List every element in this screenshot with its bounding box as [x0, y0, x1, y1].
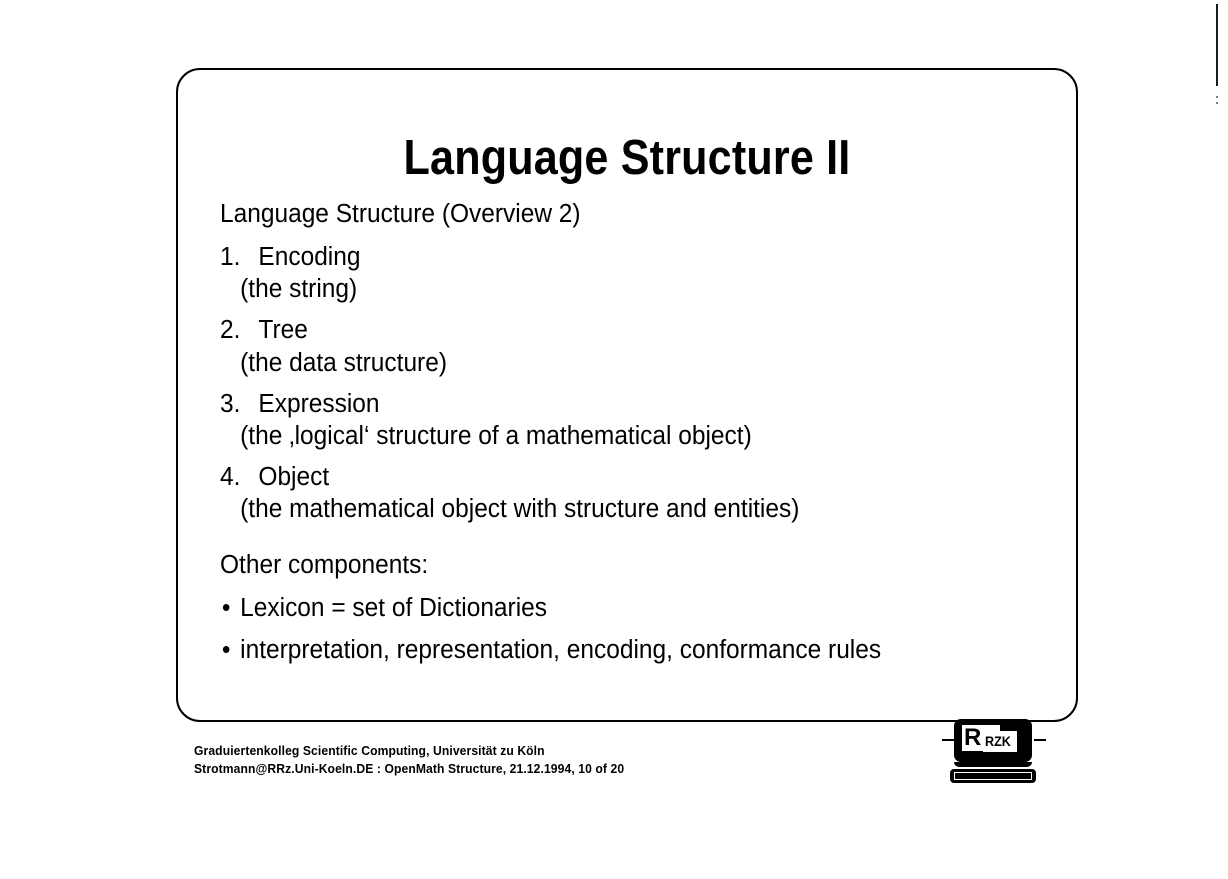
list-item: 2.Tree (the data structure)	[220, 314, 1017, 378]
list-item-heading: Expression	[258, 390, 379, 418]
list-item: 4.Object (the mathematical object with s…	[220, 461, 1017, 525]
logo-rzk-letters: RZK	[985, 733, 1014, 750]
list-marker: 2.	[220, 314, 258, 346]
list-item: •Lexicon = set of Dictionaries	[220, 592, 1017, 624]
monitor-base-inner-icon	[954, 772, 1032, 780]
bullet-item-text: interpretation, representation, encoding…	[240, 636, 881, 664]
list-item: 3.Expression (the ‚logical‘ structure of…	[220, 388, 1017, 452]
monitor-neck-icon	[954, 762, 1032, 767]
monitor-base-icon	[950, 769, 1036, 783]
list-item: 1.Encoding (the string)	[220, 241, 1017, 305]
footer-line-citation: Strotmann@RRz.Uni-Koeln.DE : OpenMath St…	[194, 760, 624, 778]
numbered-item-heading-row: 1.Encoding	[220, 241, 1017, 273]
bullet-marker: •	[222, 634, 240, 666]
footer: Graduiertenkolleg Scientific Computing, …	[194, 742, 624, 778]
numbered-item-heading-row: 3.Expression	[220, 388, 1017, 420]
list-item-heading: Object	[258, 463, 329, 491]
bullet-item-text: Lexicon = set of Dictionaries	[240, 594, 547, 622]
list-marker: 3.	[220, 388, 258, 420]
logo-wing-right-icon	[1034, 739, 1046, 741]
list-item-detail: (the mathematical object with structure …	[220, 493, 1017, 525]
rrzk-logo: R RZK	[950, 719, 1040, 783]
other-components-heading: Other components:	[220, 549, 1017, 581]
slide-subtitle: Language Structure (Overview 2)	[220, 198, 1017, 230]
list-item-detail: (the string)	[220, 273, 1017, 305]
numbered-item-heading-row: 2.Tree	[220, 314, 1017, 346]
page-title: Language Structure II	[232, 133, 1022, 184]
scan-artifact-dot	[1216, 102, 1218, 104]
list-item-heading: Tree	[258, 316, 307, 344]
list-item-detail: (the ‚logical‘ structure of a mathematic…	[220, 420, 1017, 452]
list-item: •interpretation, representation, encodin…	[220, 634, 1017, 666]
footer-line-institution: Graduiertenkolleg Scientific Computing, …	[194, 742, 624, 760]
list-marker: 1.	[220, 241, 258, 273]
numbered-item-heading-row: 4.Object	[220, 461, 1017, 493]
scan-artifact-line	[1216, 4, 1218, 86]
slide-card: Language Structure II Language Structure…	[176, 68, 1078, 722]
list-marker: 4.	[220, 461, 258, 493]
logo-wing-left-icon	[942, 739, 954, 741]
list-item-detail: (the data structure)	[220, 347, 1017, 379]
bullet-marker: •	[222, 592, 240, 624]
scan-artifact-dot	[1216, 96, 1218, 98]
list-item-heading: Encoding	[258, 243, 360, 271]
slide-body: Language Structure (Overview 2) 1.Encodi…	[220, 198, 1017, 677]
